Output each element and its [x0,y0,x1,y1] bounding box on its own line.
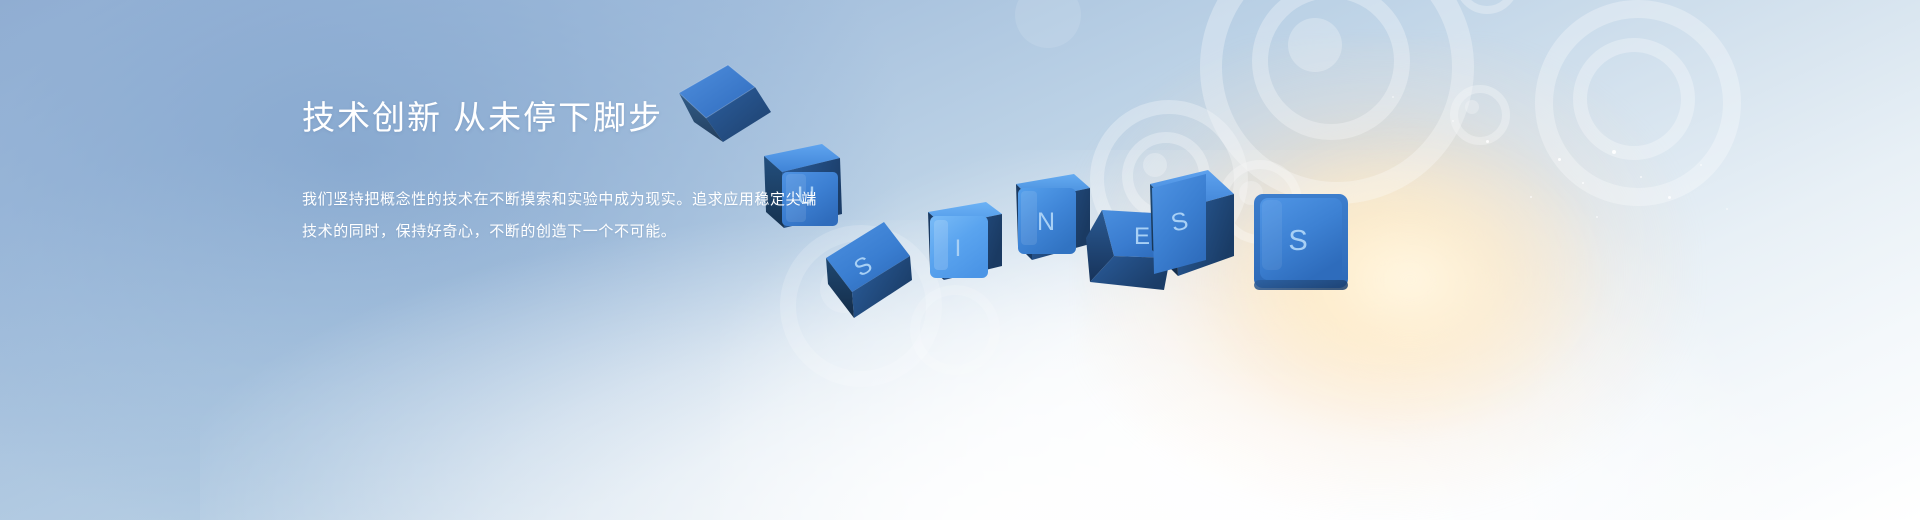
svg-text:S: S [1288,225,1307,257]
ring-right-edge-inner [1573,38,1695,160]
hero-text-block: 技术创新 从未停下脚步 我们坚持把概念性的技术在不断摸索和实验中成为现实。追求应… [302,96,922,248]
key-s-middle[interactable]: S [1146,164,1248,288]
hero-banner: 技术创新 从未停下脚步 我们坚持把概念性的技术在不断摸索和实验中成为现实。追求应… [0,0,1920,520]
blob-lower [1015,0,1081,48]
svg-text:N: N [1037,208,1055,236]
ring-large-inner [1252,0,1410,140]
ring-right-edge [1535,0,1741,206]
hero-subcopy-line-2: 技术的同时，保持好奇心，不断的创造下一个不可能。 [302,216,922,248]
key-i[interactable]: I [924,198,1006,288]
keycap-cluster: U S [0,0,1920,520]
svg-text:I: I [955,235,962,262]
ring-right-top [1455,0,1519,14]
key-s-right[interactable]: S [1248,188,1356,296]
ring-right-mid [1450,85,1510,145]
ring-large-core [1288,18,1342,72]
hero-headline: 技术创新 从未停下脚步 [302,96,922,140]
ring-right-mid-core [1465,100,1479,114]
hero-subcopy-line-1: 我们坚持把概念性的技术在不断摸索和实验中成为现实。追求应用稳定尖端 [302,184,922,216]
ring-bottom-mid [910,285,1000,375]
